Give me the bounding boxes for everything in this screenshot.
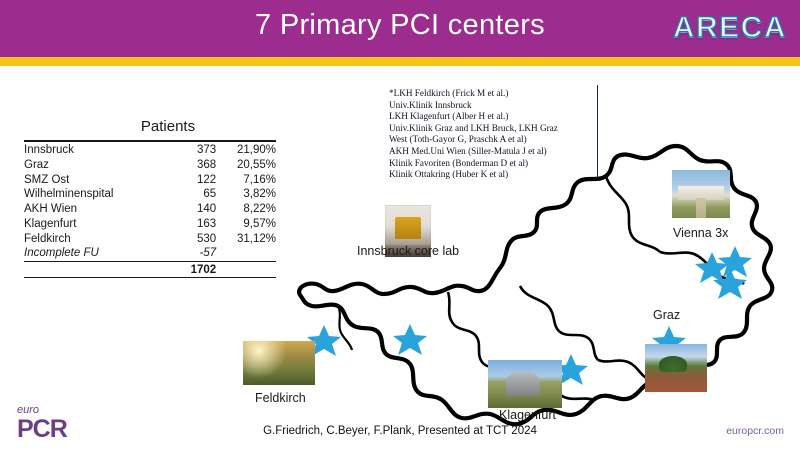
map-label-graz: Graz bbox=[653, 308, 680, 322]
map-label-vienna: Vienna 3x bbox=[673, 226, 728, 240]
map-label-klagenfurt: Klagenfurt bbox=[499, 408, 556, 422]
photo-vienna-belvedere bbox=[672, 170, 730, 218]
photo-klagenfurt-lindwurm bbox=[488, 360, 562, 408]
footer-url: europcr.com bbox=[726, 425, 784, 437]
areca-logo: ARECA bbox=[673, 11, 787, 45]
presentation-caption: G.Friedrich, C.Beyer, F.Plank, Presented… bbox=[0, 425, 800, 437]
europcr-logo-pcr: PCR bbox=[17, 417, 67, 442]
photo-feldkirch-townscape bbox=[243, 341, 315, 385]
map-label-feldkirch: Feldkirch bbox=[255, 391, 306, 405]
photo-graz-schlossberg bbox=[645, 344, 707, 392]
europcr-logo: euro PCR bbox=[17, 405, 67, 442]
map-label-innsbruck: Innsbruck core lab bbox=[357, 244, 459, 258]
